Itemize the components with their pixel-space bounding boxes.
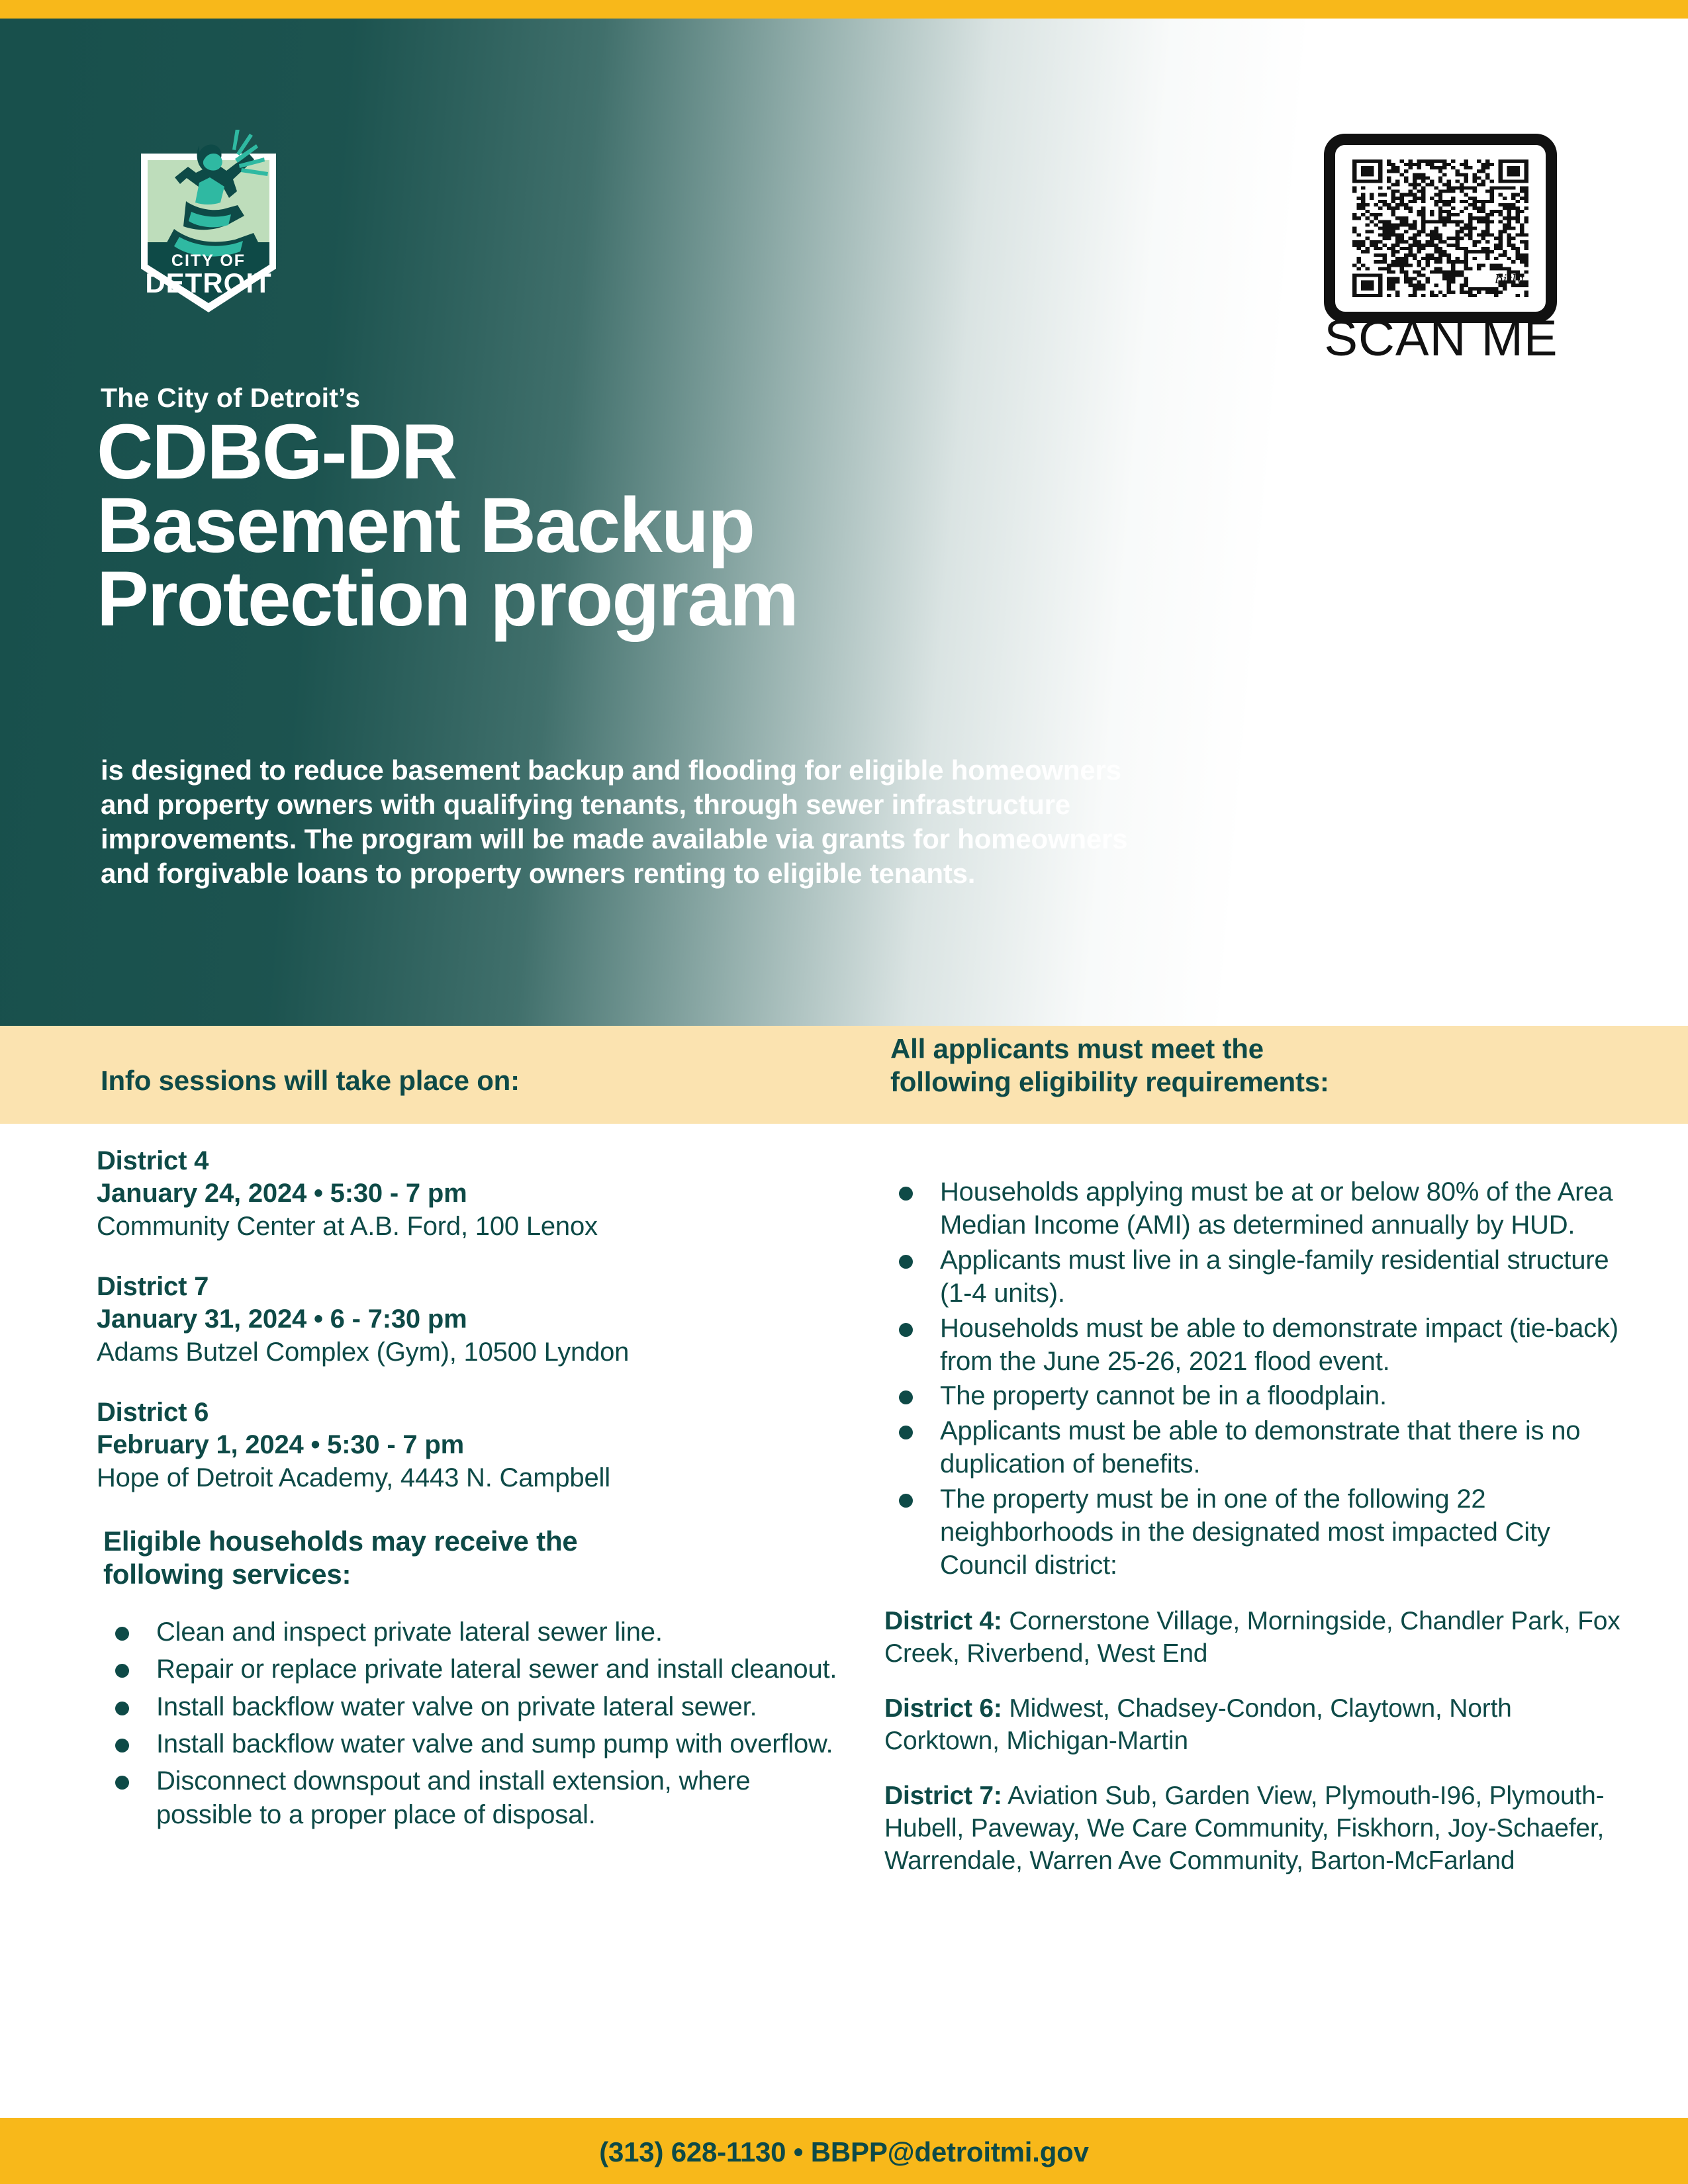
neighborhood-group: District 7: Aviation Sub, Garden View, P… [884, 1780, 1626, 1877]
eligibility-heading-line-1: All applicants must meet the [890, 1032, 1605, 1066]
info-sessions-heading: Info sessions will take place on: [101, 1065, 520, 1097]
services-list: Clean and inspect private lateral sewer … [97, 1615, 845, 1831]
svg-text:DETROIT: DETROIT [145, 267, 271, 298]
neighborhood-district-label: District 7: [884, 1782, 1002, 1810]
session-location: Hope of Detroit Academy, 4443 N. Campbel… [97, 1461, 845, 1494]
title-line-3: Protection program [97, 563, 1156, 636]
pre-apply-label: Pre-apply today: [1303, 455, 1579, 483]
scan-me-label: SCAN ME [1303, 314, 1579, 364]
title-line-1: CDBG-DR [97, 416, 1156, 489]
neighborhood-district-label: District 4: [884, 1607, 1002, 1635]
eligibility-heading: All applicants must meet the following e… [890, 1032, 1605, 1098]
session-location: Community Center at A.B. Ford, 100 Lenox [97, 1210, 845, 1243]
program-description: is designed to reduce basement backup an… [101, 753, 1147, 891]
right-column: Households applying must be at or below … [884, 1152, 1626, 1878]
list-item: Repair or replace private lateral sewer … [97, 1653, 845, 1686]
list-item: Disconnect downspout and install extensi… [97, 1764, 845, 1831]
session-district: District 7 [97, 1271, 845, 1303]
top-gold-bar [0, 0, 1688, 19]
hero-section: CITY OF DETROIT The City of Detroit’s CD… [0, 19, 1688, 1026]
city-of-detroit-logo: CITY OF DETROIT [136, 130, 281, 322]
list-item: Install backflow water valve on private … [97, 1690, 845, 1723]
session-district: District 4 [97, 1145, 845, 1177]
list-item: Applicants must be able to demonstrate t… [884, 1414, 1626, 1481]
session-location: Adams Butzel Complex (Gym), 10500 Lyndon [97, 1336, 845, 1369]
services-heading: Eligible households may receive the foll… [103, 1525, 845, 1592]
left-column: District 4 January 24, 2024 • 5:30 - 7 p… [97, 1145, 845, 1835]
list-item: Households applying must be at or below … [884, 1175, 1626, 1242]
list-item: Households must be able to demonstrate i… [884, 1312, 1626, 1379]
session-item: District 6 February 1, 2024 • 5:30 - 7 p… [97, 1396, 845, 1494]
neighborhood-group: District 4: Cornerstone Village, Morning… [884, 1605, 1626, 1670]
bitly-watermark: bitly [1495, 272, 1523, 287]
qr-code-frame: bitly [1324, 134, 1557, 323]
session-item: District 7 January 31, 2024 • 6 - 7:30 p… [97, 1271, 845, 1369]
list-item: Clean and inspect private lateral sewer … [97, 1615, 845, 1649]
session-district: District 6 [97, 1396, 845, 1429]
eligibility-list: Households applying must be at or below … [884, 1175, 1626, 1582]
session-datetime: January 31, 2024 • 6 - 7:30 pm [97, 1303, 845, 1336]
footer-gold-bar: (313) 628-1130 • BBPP@detroitmi.gov [0, 2118, 1688, 2184]
neighborhood-district-label: District 6: [884, 1694, 1002, 1723]
session-datetime: January 24, 2024 • 5:30 - 7 pm [97, 1177, 845, 1210]
footer-contact: (313) 628-1130 • BBPP@detroitmi.gov [0, 2136, 1688, 2168]
services-heading-line-1: Eligible households may receive the [103, 1525, 845, 1558]
qr-code-card[interactable]: bitly SCAN ME [1303, 115, 1579, 380]
list-item: The property must be in one of the follo… [884, 1482, 1626, 1582]
flyer-page: CITY OF DETROIT The City of Detroit’s CD… [0, 0, 1688, 2184]
list-item: Applicants must live in a single-family … [884, 1244, 1626, 1310]
neighborhood-group: District 6: Midwest, Chadsey-Condon, Cla… [884, 1692, 1626, 1757]
session-datetime: February 1, 2024 • 5:30 - 7 pm [97, 1429, 845, 1461]
pre-apply-block: Pre-apply today: bit.ly/CDBG-BBPP [1303, 455, 1579, 518]
services-heading-line-2: following services: [103, 1558, 845, 1591]
eligibility-heading-line-2: following eligibility requirements: [890, 1066, 1605, 1099]
pre-apply-url[interactable]: bit.ly/CDBG-BBPP [1303, 486, 1579, 518]
list-item: The property cannot be in a floodplain. [884, 1379, 1626, 1412]
list-item: Install backflow water valve and sump pu… [97, 1727, 845, 1760]
page-title: CDBG-DR Basement Backup Protection progr… [97, 416, 1156, 636]
title-line-2: Basement Backup [97, 489, 1156, 563]
session-item: District 4 January 24, 2024 • 5:30 - 7 p… [97, 1145, 845, 1243]
